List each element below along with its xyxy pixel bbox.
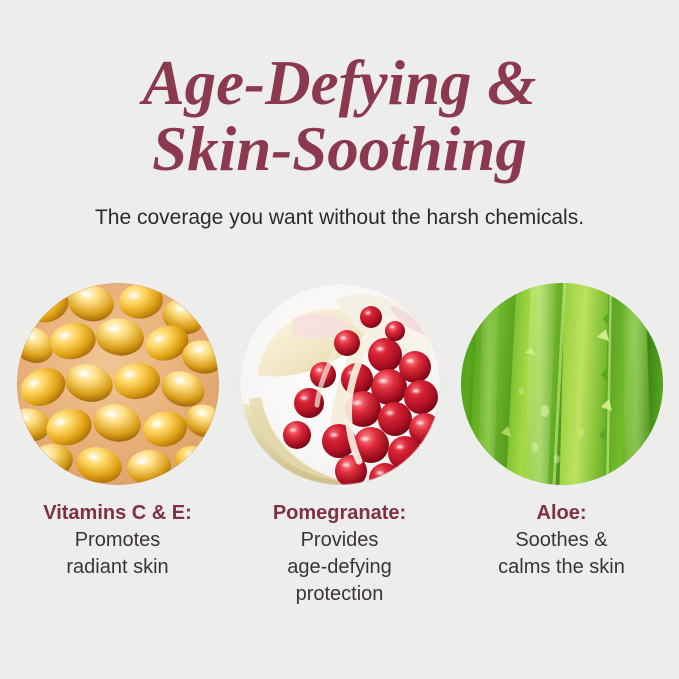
headline-line-2: Skin-Soothing <box>0 116 679 182</box>
vitamin-softgel-capsules-photo <box>17 283 219 485</box>
infographic-page: Age-Defying & Skin-Soothing The coverage… <box>0 0 679 679</box>
ingredient-desc-line: Soothes & <box>457 527 667 554</box>
ingredient-label-vitamins: Vitamins C & E: <box>13 499 223 527</box>
ingredient-card-vitamins: Vitamins C & E: Promotes radiant skin <box>16 283 219 608</box>
caption-pomegranate: Pomegranate: Provides age-defying protec… <box>235 499 445 608</box>
subtitle: The coverage you want without the harsh … <box>0 203 679 233</box>
ingredient-label-aloe: Aloe: <box>457 499 667 527</box>
ingredient-desc-line: Provides <box>235 527 445 554</box>
ingredient-cards-row: Vitamins C & E: Promotes radiant skin <box>0 283 679 608</box>
caption-vitamins: Vitamins C & E: Promotes radiant skin <box>13 499 223 581</box>
ingredient-desc-line: protection <box>235 581 445 608</box>
ingredient-card-pomegranate: Pomegranate: Provides age-defying protec… <box>238 283 441 608</box>
ingredient-desc-line: calms the skin <box>457 554 667 581</box>
caption-aloe: Aloe: Soothes & calms the skin <box>457 499 667 581</box>
pomegranate-photo <box>239 283 441 485</box>
ingredient-card-aloe: Aloe: Soothes & calms the skin <box>460 283 663 608</box>
headline-line-1: Age-Defying & <box>0 50 679 116</box>
ingredient-desc-line: Promotes <box>13 527 223 554</box>
aloe-vera-leaves-photo <box>461 283 663 485</box>
ingredient-desc-line: radiant skin <box>13 554 223 581</box>
ingredient-desc-line: age-defying <box>235 554 445 581</box>
ingredient-label-pomegranate: Pomegranate: <box>235 499 445 527</box>
page-title: Age-Defying & Skin-Soothing <box>0 50 679 182</box>
